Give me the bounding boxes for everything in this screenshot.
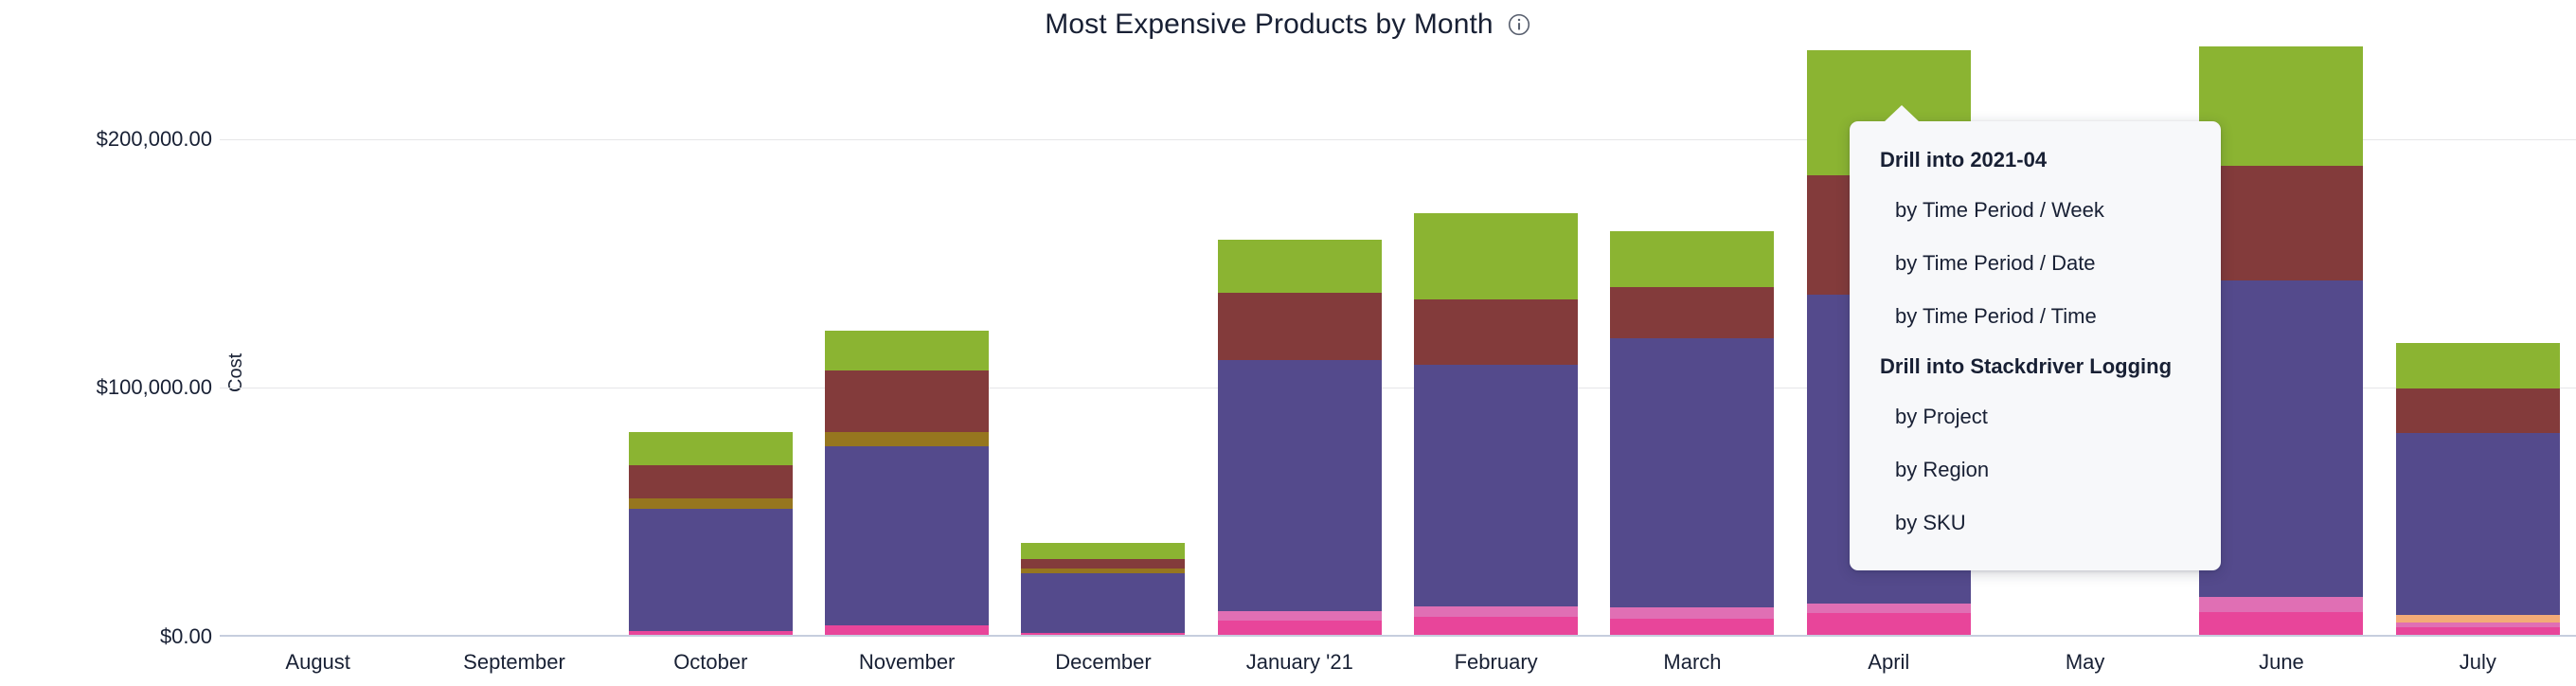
bar-segment[interactable] <box>629 509 793 631</box>
bar-segment[interactable] <box>1218 240 1382 293</box>
bar-segment[interactable] <box>2396 615 2560 622</box>
bar-segment[interactable] <box>629 465 793 498</box>
bar-segment[interactable] <box>1218 611 1382 621</box>
x-axis-tick-label: February <box>1398 639 1594 686</box>
x-axis-tick-label: July <box>2380 639 2576 686</box>
x-axis-tick-label: October <box>613 639 809 686</box>
drill-menu-item[interactable]: by Project <box>1850 390 2221 443</box>
bar-segment[interactable] <box>1610 607 1774 619</box>
chart-page: Most Expensive Products by Month Cost $0… <box>0 0 2576 686</box>
x-axis-tick-label: August <box>220 639 416 686</box>
stacked-bar[interactable] <box>1218 240 1382 638</box>
info-circle-icon[interactable] <box>1507 12 1531 37</box>
bar-segment[interactable] <box>2396 343 2560 389</box>
bar-segment[interactable] <box>1414 213 1578 299</box>
bar-slot[interactable] <box>1005 49 1201 637</box>
stacked-bar[interactable] <box>629 432 793 637</box>
bar-slot[interactable] <box>2380 49 2576 637</box>
bar-segment[interactable] <box>1021 559 1185 569</box>
bar-segment[interactable] <box>2199 597 2363 613</box>
bar-slot[interactable] <box>416 49 612 637</box>
bar-segment[interactable] <box>1021 543 1185 559</box>
drill-menu-heading: Drill into 2021-04 <box>1850 136 2221 184</box>
bar-segment[interactable] <box>825 331 989 370</box>
drill-context-menu[interactable]: Drill into 2021-04by Time Period / Weekb… <box>1850 121 2221 570</box>
bar-segment[interactable] <box>1414 365 1578 606</box>
bar-segment[interactable] <box>629 498 793 509</box>
stacked-bar[interactable] <box>1021 543 1185 637</box>
drill-menu-item[interactable]: by Region <box>1850 443 2221 496</box>
bar-group <box>220 49 2576 637</box>
bar-segment[interactable] <box>2199 46 2363 166</box>
x-axis-tick-label: May <box>1987 639 2183 686</box>
y-axis-tick-label: $0.00 <box>0 624 212 649</box>
bar-segment[interactable] <box>1414 299 1578 366</box>
x-axis-tick-label: June <box>2183 639 2379 686</box>
bar-segment[interactable] <box>2199 612 2363 637</box>
bar-segment[interactable] <box>1218 293 1382 360</box>
x-axis-tick-label: December <box>1005 639 1201 686</box>
y-axis-tick-label: $200,000.00 <box>0 127 212 152</box>
drill-menu-item[interactable]: by Time Period / Date <box>1850 237 2221 290</box>
drill-menu-item[interactable]: by SKU <box>1850 496 2221 550</box>
drill-menu-item[interactable]: by Time Period / Week <box>1850 184 2221 237</box>
chart-header: Most Expensive Products by Month <box>0 0 2576 49</box>
stacked-bar[interactable] <box>2396 343 2560 637</box>
stacked-bar[interactable] <box>1414 213 1578 637</box>
drill-menu-item[interactable]: by Time Period / Time <box>1850 290 2221 343</box>
x-axis-ticks: AugustSeptemberOctoberNovemberDecemberJa… <box>220 639 2576 686</box>
x-axis-tick-label: January '21 <box>1202 639 1398 686</box>
bar-segment[interactable] <box>1610 287 1774 338</box>
page-title: Most Expensive Products by Month <box>1045 9 1493 41</box>
stacked-bar[interactable] <box>825 331 989 637</box>
stacked-bar[interactable] <box>1610 231 1774 637</box>
x-axis-tick-label: March <box>1594 639 1790 686</box>
bar-segment[interactable] <box>2199 166 2363 280</box>
bar-segment[interactable] <box>1610 338 1774 607</box>
bar-slot[interactable] <box>220 49 416 637</box>
bar-segment[interactable] <box>2199 280 2363 597</box>
x-axis-tick-label: September <box>416 639 612 686</box>
x-axis-tick-label: April <box>1791 639 1987 686</box>
bar-segment[interactable] <box>1807 613 1971 637</box>
bar-slot[interactable] <box>1398 49 1594 637</box>
bar-segment[interactable] <box>1414 617 1578 637</box>
bar-segment[interactable] <box>1807 604 1971 614</box>
bar-segment[interactable] <box>825 370 989 433</box>
bar-segment[interactable] <box>825 432 989 445</box>
bar-segment[interactable] <box>2396 433 2560 615</box>
x-axis-tick-label: November <box>809 639 1005 686</box>
drill-menu-heading: Drill into Stackdriver Logging <box>1850 343 2221 390</box>
bar-segment[interactable] <box>1610 231 1774 287</box>
bar-segment[interactable] <box>2396 388 2560 433</box>
y-axis-tick-label: $100,000.00 <box>0 375 212 400</box>
bar-segment[interactable] <box>1414 606 1578 617</box>
bar-slot[interactable] <box>1202 49 1398 637</box>
bar-slot[interactable] <box>613 49 809 637</box>
stacked-bar[interactable] <box>2199 46 2363 637</box>
bar-slot[interactable] <box>1594 49 1790 637</box>
bar-segment[interactable] <box>1218 360 1382 611</box>
bar-slot[interactable] <box>809 49 1005 637</box>
bar-segment[interactable] <box>629 432 793 464</box>
axis-baseline <box>220 635 2576 637</box>
plot-area: Cost $0.00$100,000.00$200,000.00 <box>220 49 2576 637</box>
bar-segment[interactable] <box>825 446 989 625</box>
bar-segment[interactable] <box>1021 573 1185 633</box>
